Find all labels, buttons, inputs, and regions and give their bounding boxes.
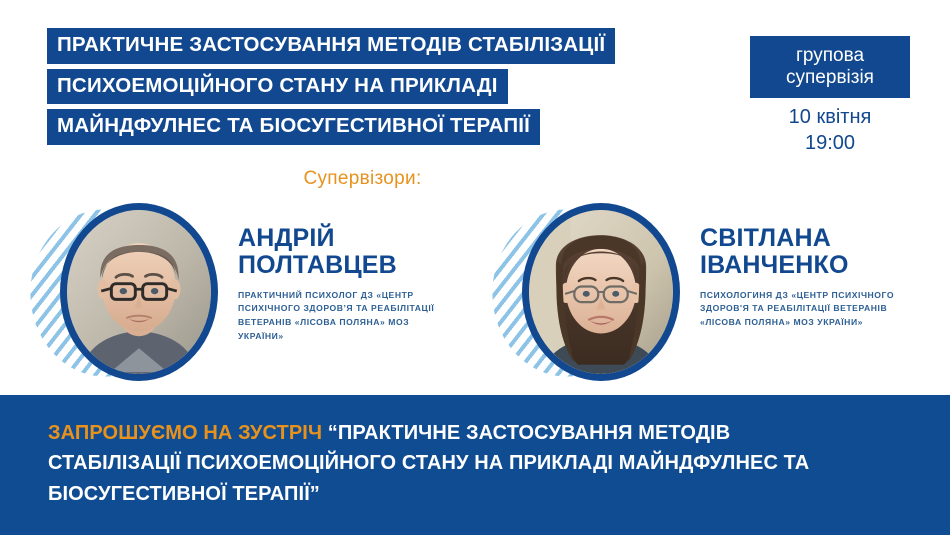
speaker-last-name: ПОЛТАВЦЕВ (238, 252, 468, 279)
speaker-name: СВІТЛАНА ІВАНЧЕНКО (700, 225, 930, 279)
speaker-info: АНДРІЙ ПОЛТАВЦЕВ ПРАКТИЧНИЙ ПСИХОЛОГ ДЗ … (238, 225, 468, 344)
speaker-photo-frame (490, 203, 680, 383)
speaker-name: АНДРІЙ ПОЛТАВЦЕВ (238, 225, 468, 279)
event-title: ПРАКТИЧНЕ ЗАСТОСУВАННЯ МЕТОДІВ СТАБІЛІЗА… (47, 28, 727, 150)
title-line-2: ПСИХОЕМОЦІЙНОГО СТАНУ НА ПРИКЛАДІ (47, 69, 508, 105)
invitation-lead: ЗАПРОШУЄМО НА ЗУСТРІЧ (48, 422, 322, 444)
event-time: 19:00 (750, 130, 910, 156)
supervisors-label: Супервізори: (0, 168, 725, 190)
invitation-text: ЗАПРОШУЄМО НА ЗУСТРІЧ “ПРАКТИЧНЕ ЗАСТОСУ… (48, 418, 838, 509)
speaker-first-name: СВІТЛАНА (700, 225, 930, 252)
event-date: 10 квітня (750, 104, 910, 130)
group-supervision-badge: групова супервізія (750, 36, 910, 98)
speaker-info: СВІТЛАНА ІВАНЧЕНКО ПСИХОЛОГИНЯ ДЗ «ЦЕНТР… (700, 225, 930, 330)
speaker-last-name: ІВАНЧЕНКО (700, 252, 930, 279)
speaker-bio: ПСИХОЛОГИНЯ ДЗ «ЦЕНТР ПСИХІЧНОГО ЗДОРОВ'… (700, 289, 900, 331)
speaker-photo-frame (28, 203, 218, 383)
poster-canvas: ПРАКТИЧНЕ ЗАСТОСУВАННЯ МЕТОДІВ СТАБІЛІЗА… (0, 0, 950, 535)
speaker-first-name: АНДРІЙ (238, 225, 468, 252)
badge-line-2: супервізія (786, 67, 874, 89)
invitation-banner: ЗАПРОШУЄМО НА ЗУСТРІЧ “ПРАКТИЧНЕ ЗАСТОСУ… (0, 395, 950, 535)
portrait-svitlana-ivanchenko (529, 210, 673, 374)
badge-line-1: групова (796, 45, 864, 67)
speaker-avatar (60, 203, 218, 381)
event-datetime: 10 квітня 19:00 (750, 104, 910, 157)
title-line-3: МАЙНДФУЛНЕС ТА БІОСУГЕСТИВНОЇ ТЕРАПІЇ (47, 109, 540, 145)
title-line-1: ПРАКТИЧНЕ ЗАСТОСУВАННЯ МЕТОДІВ СТАБІЛІЗА… (47, 28, 615, 64)
portrait-andriy-poltavtsev (67, 210, 211, 374)
speaker-bio: ПРАКТИЧНИЙ ПСИХОЛОГ ДЗ «ЦЕНТР ПСИХІЧНОГО… (238, 289, 438, 345)
speaker-avatar (522, 203, 680, 381)
